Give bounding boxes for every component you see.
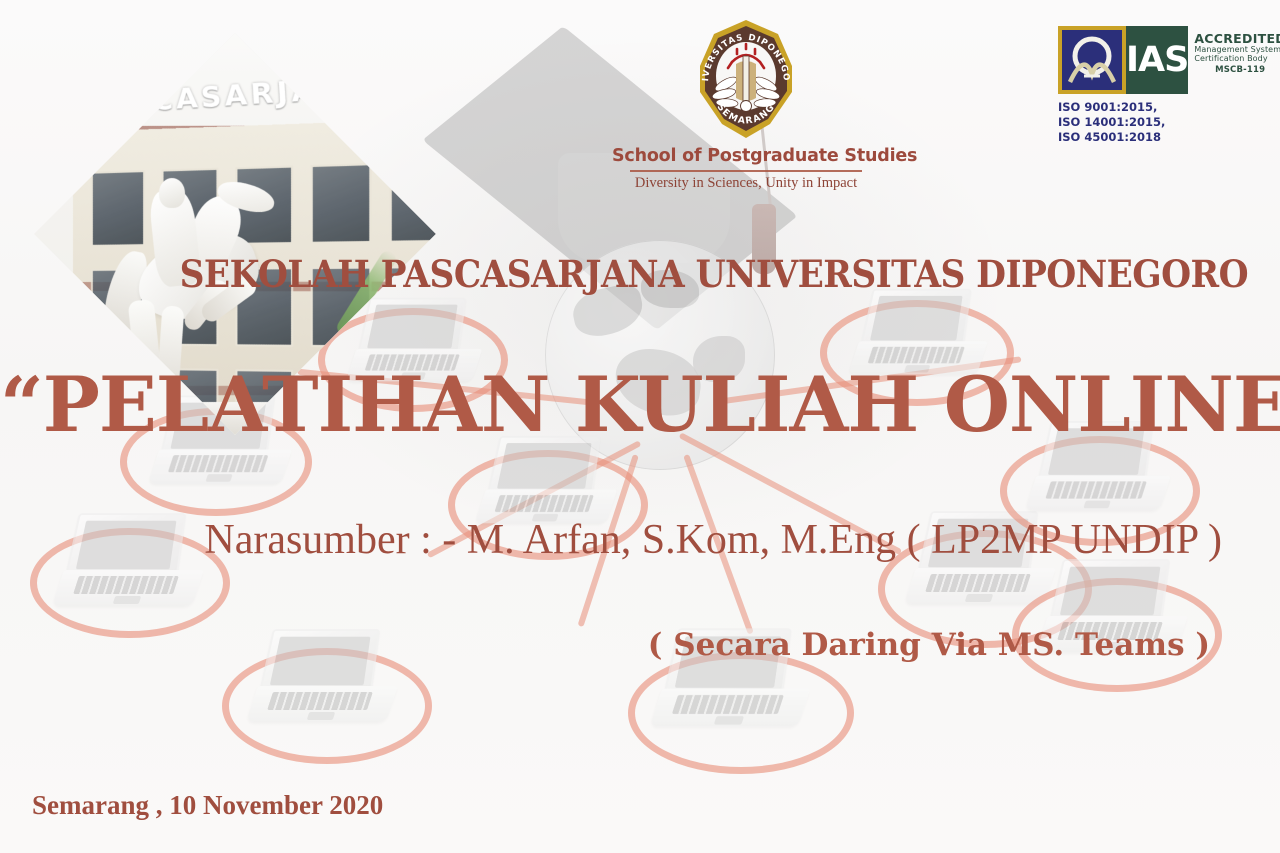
accreditation-line-2: Certification Body xyxy=(1194,55,1280,64)
iso-standard-item: ISO 9001:2015, xyxy=(1058,100,1263,115)
platform-text: ( Secara Daring Via MS. Teams ) xyxy=(0,627,1210,663)
undip-emblem-icon: UNIVERSITAS DIPONEGORO SEMARANG xyxy=(692,18,800,142)
poster-canvas: PASCASARJANA xyxy=(0,0,1280,853)
ias-wordmark: IAS xyxy=(1126,26,1188,94)
school-name-text: School of Postgraduate Studies xyxy=(612,146,880,166)
accreditation-code: MSCB-119 xyxy=(1194,66,1280,76)
place-date-text: Semarang , 10 November 2020 xyxy=(32,790,383,821)
iso-standard-item: ISO 14001:2015, xyxy=(1058,115,1263,130)
page-title: “PELATIHAN KULIAH ONLINE ” xyxy=(0,360,1250,449)
undip-logo: UNIVERSITAS DIPONEGORO SEMARANG School o… xyxy=(612,18,880,192)
iso-standard-item: ISO 45001:2018 xyxy=(1058,130,1263,145)
speaker-text: Narasumber : - M. Arfan, S.Kom, M.Eng ( … xyxy=(0,516,1222,564)
headline-text: SEKOLAH PASCASARJANA UNIVERSITAS DIPONEG… xyxy=(87,252,1248,296)
ias-accreditation-badge: IAS ACCREDITED Management Systems Certif… xyxy=(1058,26,1263,146)
school-tagline-text: Diversity in Sciences, Unity in Impact xyxy=(612,175,880,192)
iso-standards-list: ISO 9001:2015, ISO 14001:2015, ISO 45001… xyxy=(1058,100,1263,146)
ias-q-monogram-icon xyxy=(1058,26,1126,94)
logo-divider xyxy=(630,170,862,172)
accredited-label: ACCREDITED xyxy=(1194,32,1280,46)
building-antenna xyxy=(345,50,347,124)
